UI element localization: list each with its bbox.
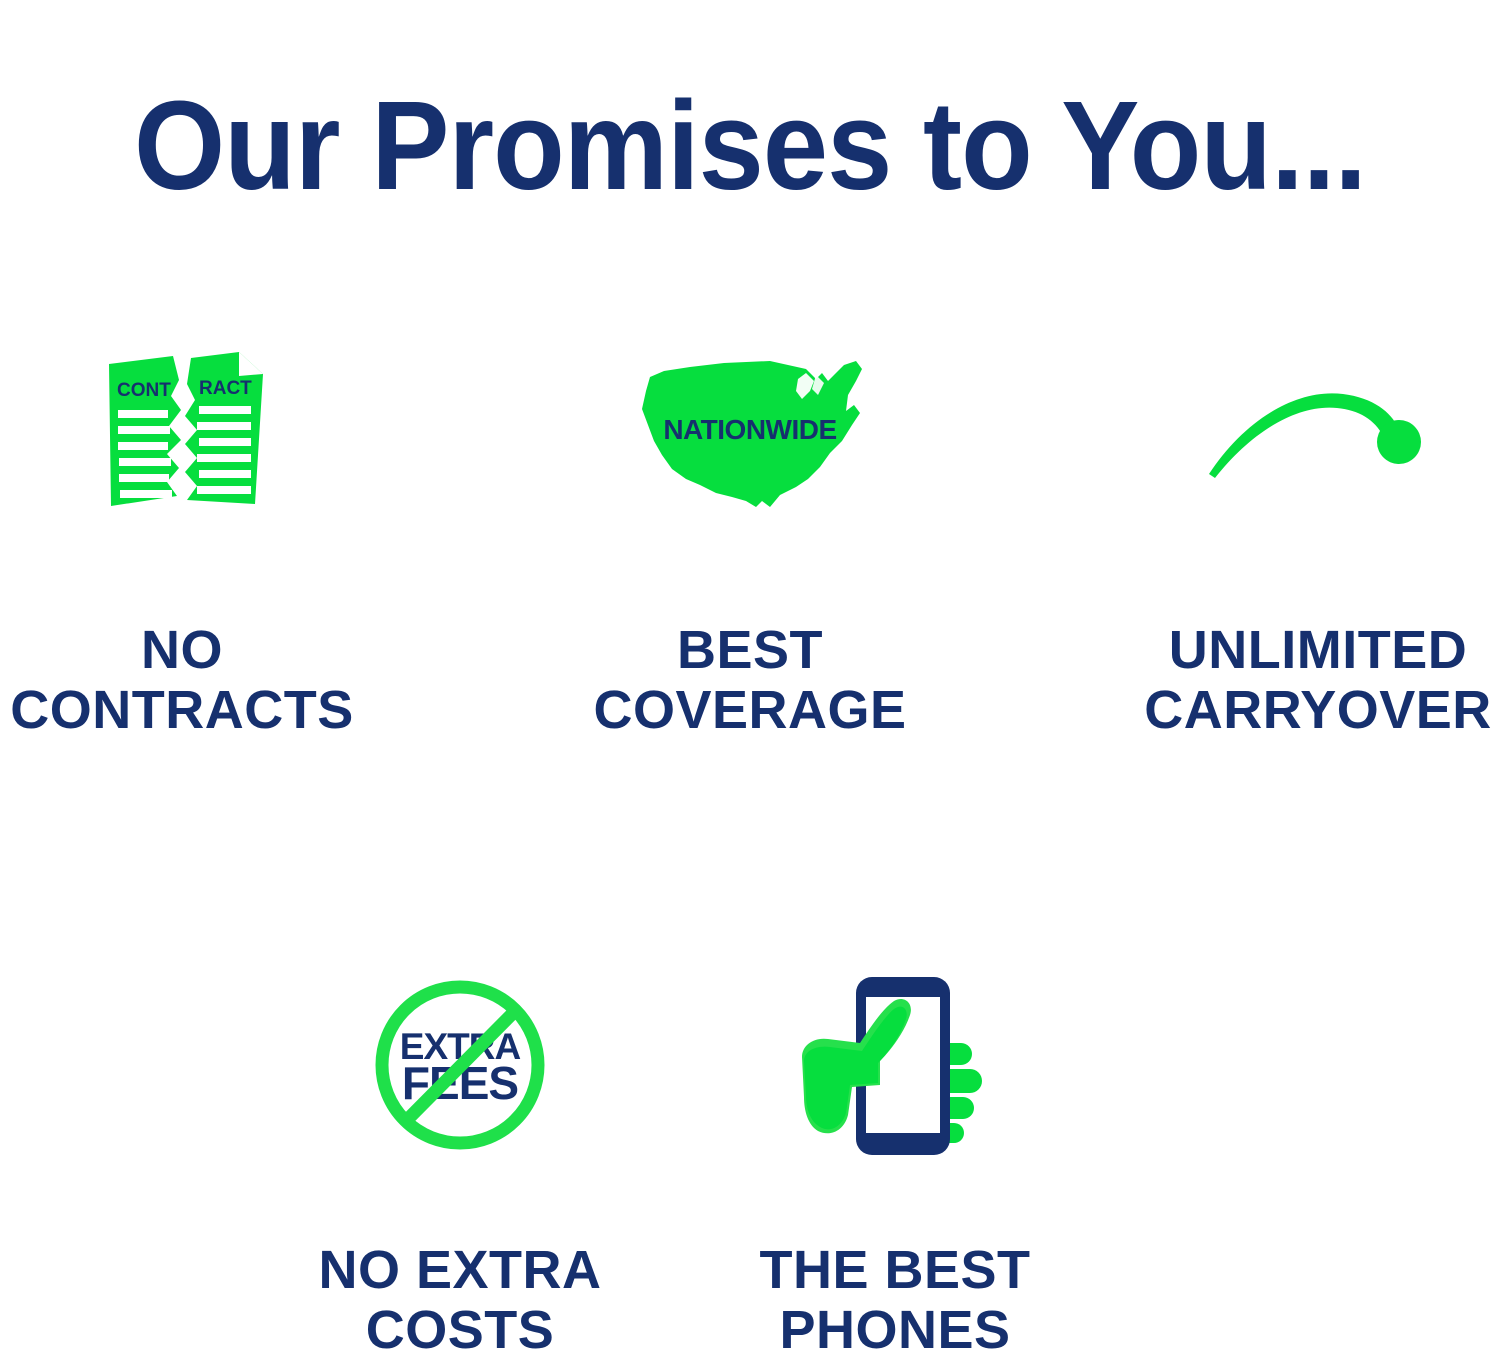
- promises-row-top: CONT RACT NO CONTRACTS NATIONWIDE BEST C…: [0, 330, 1500, 740]
- promises-page: Our Promises to You...: [0, 0, 1500, 1367]
- usa-map-icon-box: NATIONWIDE: [620, 330, 880, 540]
- contract-icon-text-left: CONT: [117, 380, 171, 401]
- promise-label-unlimited-carryover: UNLIMITED CARRYOVER: [1144, 620, 1492, 740]
- promise-label-no-contracts: NO CONTRACTS: [10, 620, 353, 740]
- arc-ball-icon: [1203, 370, 1433, 500]
- promise-unlimited-carryover: UNLIMITED CARRYOVER: [1136, 330, 1500, 740]
- promise-the-best-phones: THE BEST PHONES: [650, 960, 1140, 1360]
- promise-best-coverage: NATIONWIDE BEST COVERAGE: [364, 330, 1136, 740]
- map-icon-text: NATIONWIDE: [663, 414, 836, 445]
- torn-contract-icon-box: CONT RACT: [87, 330, 277, 540]
- no-extra-fees-icon-box: EXTRA FEES: [370, 960, 550, 1170]
- no-extra-fees-icon: EXTRA FEES: [370, 975, 550, 1155]
- promises-row-bottom: EXTRA FEES NO EXTRA COSTS: [0, 960, 1500, 1360]
- arc-ball-icon-box: [1203, 330, 1433, 540]
- hand-holding-phone-icon-box: [790, 960, 1000, 1170]
- contract-icon-text-right: RACT: [199, 378, 252, 399]
- page-title: Our Promises to You...: [53, 84, 1448, 208]
- promise-label-the-best-phones: THE BEST PHONES: [759, 1240, 1030, 1360]
- promise-label-best-coverage: BEST COVERAGE: [593, 620, 906, 740]
- torn-contract-icon: CONT RACT: [87, 340, 277, 530]
- usa-map-icon: NATIONWIDE: [620, 355, 880, 515]
- row-spacer: [0, 960, 270, 1360]
- promise-no-extra-costs: EXTRA FEES NO EXTRA COSTS: [270, 960, 650, 1360]
- promise-no-contracts: CONT RACT NO CONTRACTS: [0, 330, 364, 740]
- promise-label-no-extra-costs: NO EXTRA COSTS: [318, 1240, 601, 1360]
- hand-holding-phone-icon: [790, 965, 1000, 1165]
